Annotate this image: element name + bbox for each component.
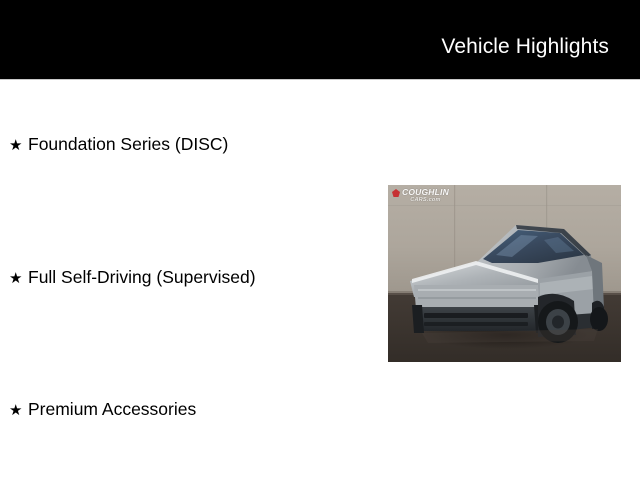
page-title: Vehicle Highlights <box>441 35 609 59</box>
star-bullet-icon: ★ <box>9 138 28 153</box>
highlight-label: Foundation Series (DISC) <box>28 135 228 154</box>
cybertruck-image <box>388 185 621 362</box>
slide-header: Vehicle Highlights <box>0 0 640 79</box>
list-item: ★ Premium Accessories <box>9 400 196 419</box>
list-item: ★ Foundation Series (DISC) <box>9 135 228 154</box>
slide-body: ★ Foundation Series (DISC) ★ Full Self-D… <box>0 80 640 480</box>
highlight-label: Full Self-Driving (Supervised) <box>28 268 256 287</box>
vehicle-photo: COUGHLIN CARS.com <box>388 185 621 362</box>
star-bullet-icon: ★ <box>9 403 28 418</box>
highlight-label: Premium Accessories <box>28 400 196 419</box>
star-bullet-icon: ★ <box>9 271 28 286</box>
list-item: ★ Full Self-Driving (Supervised) <box>9 268 256 287</box>
